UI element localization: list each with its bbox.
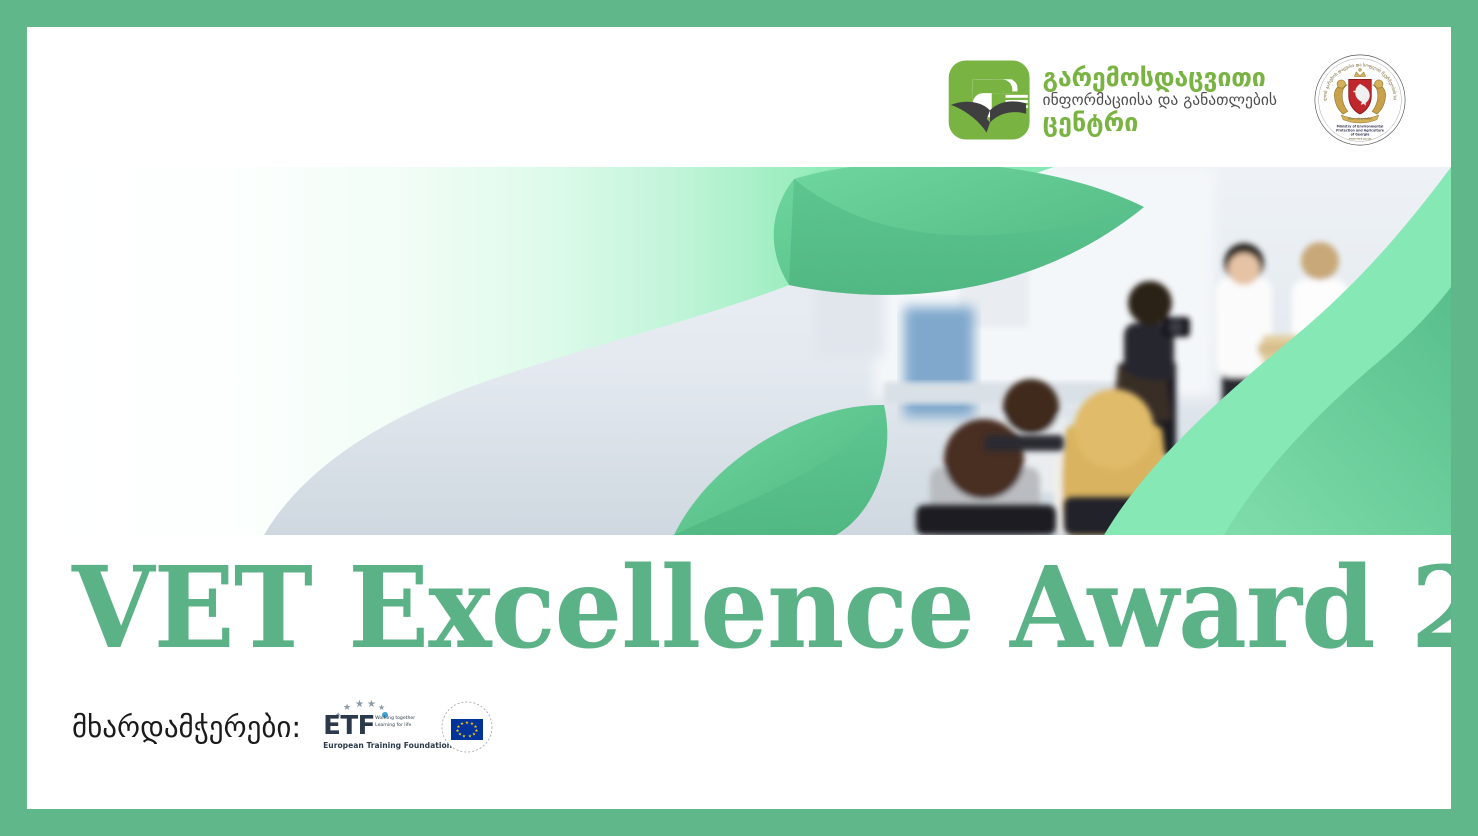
svg-text:★: ★ [468,734,472,740]
svg-text:★: ★ [355,699,364,710]
poster-canvas: გარემოსდაცვითი ინფორმაციისა და განათლები… [27,27,1451,809]
organization-logo: გარემოსდაცვითი ინფორმაციისა და განათლები… [947,57,1277,143]
organization-name-line2: ინფორმაციისა და განათლების [1043,93,1277,109]
svg-text:of Georgia: of Georgia [1351,133,1370,137]
svg-text:★: ★ [367,699,376,710]
environmental-education-centre-logo-icon [947,57,1033,143]
etf-tagline-line1: Working together [375,716,415,723]
ministry-emblem-icon: საქართველოს გარემოს დაცვისა და სოფლის მე… [1313,53,1407,147]
banner-artwork [54,167,1451,535]
etf-abbreviation: ETF [323,713,375,739]
etf-logo-icon: ★ ★ ★ ★ ★ ETF Working together Learning … [323,699,419,755]
organization-logo-text: გარემოსდაცვითი ინფორმაციისა და განათლები… [1043,65,1277,136]
banner [54,167,1451,535]
svg-text:★: ★ [378,703,385,712]
page-title: VET Excellence Award 2022 [72,553,1451,665]
poster-frame: გარემოსდაცვითი ინფორმაციისა და განათლები… [0,0,1478,836]
svg-text:★: ★ [465,720,469,726]
organization-name-line3: ცენტრი [1043,110,1277,135]
header-logo-row: გარემოსდაცვითი ინფორმაციისა და განათლები… [947,53,1407,147]
header: გარემოსდაცვითი ინფორმაციისა და განათლები… [27,27,1451,167]
supporters-row: მხარდამჭერები: ★ ★ ★ ★ ★ ETF Working tog… [72,699,493,755]
svg-text:★: ★ [462,734,466,740]
svg-text:ძალა ერთობაშია: ძალა ერთობაშია [1348,117,1372,121]
supporters-label: მხარდამჭერები: [72,710,301,744]
svg-text:www.mepa.gov.ge: www.mepa.gov.ge [1349,137,1372,140]
etf-full-name: European Training Foundation [323,741,452,750]
organization-name-line1: გარემოსდაცვითი [1043,65,1277,90]
european-union-flag-badge-icon: ★ ★ ★ ★ ★ ★ ★ ★ ★ ★ ★ [441,701,493,753]
svg-text:★: ★ [472,732,476,738]
svg-text:★: ★ [460,721,464,727]
etf-tagline: Working together Learning for life [375,716,415,729]
title-band: VET Excellence Award 2022 [27,535,1451,705]
etf-tagline-line2: Learning for life [375,723,415,730]
